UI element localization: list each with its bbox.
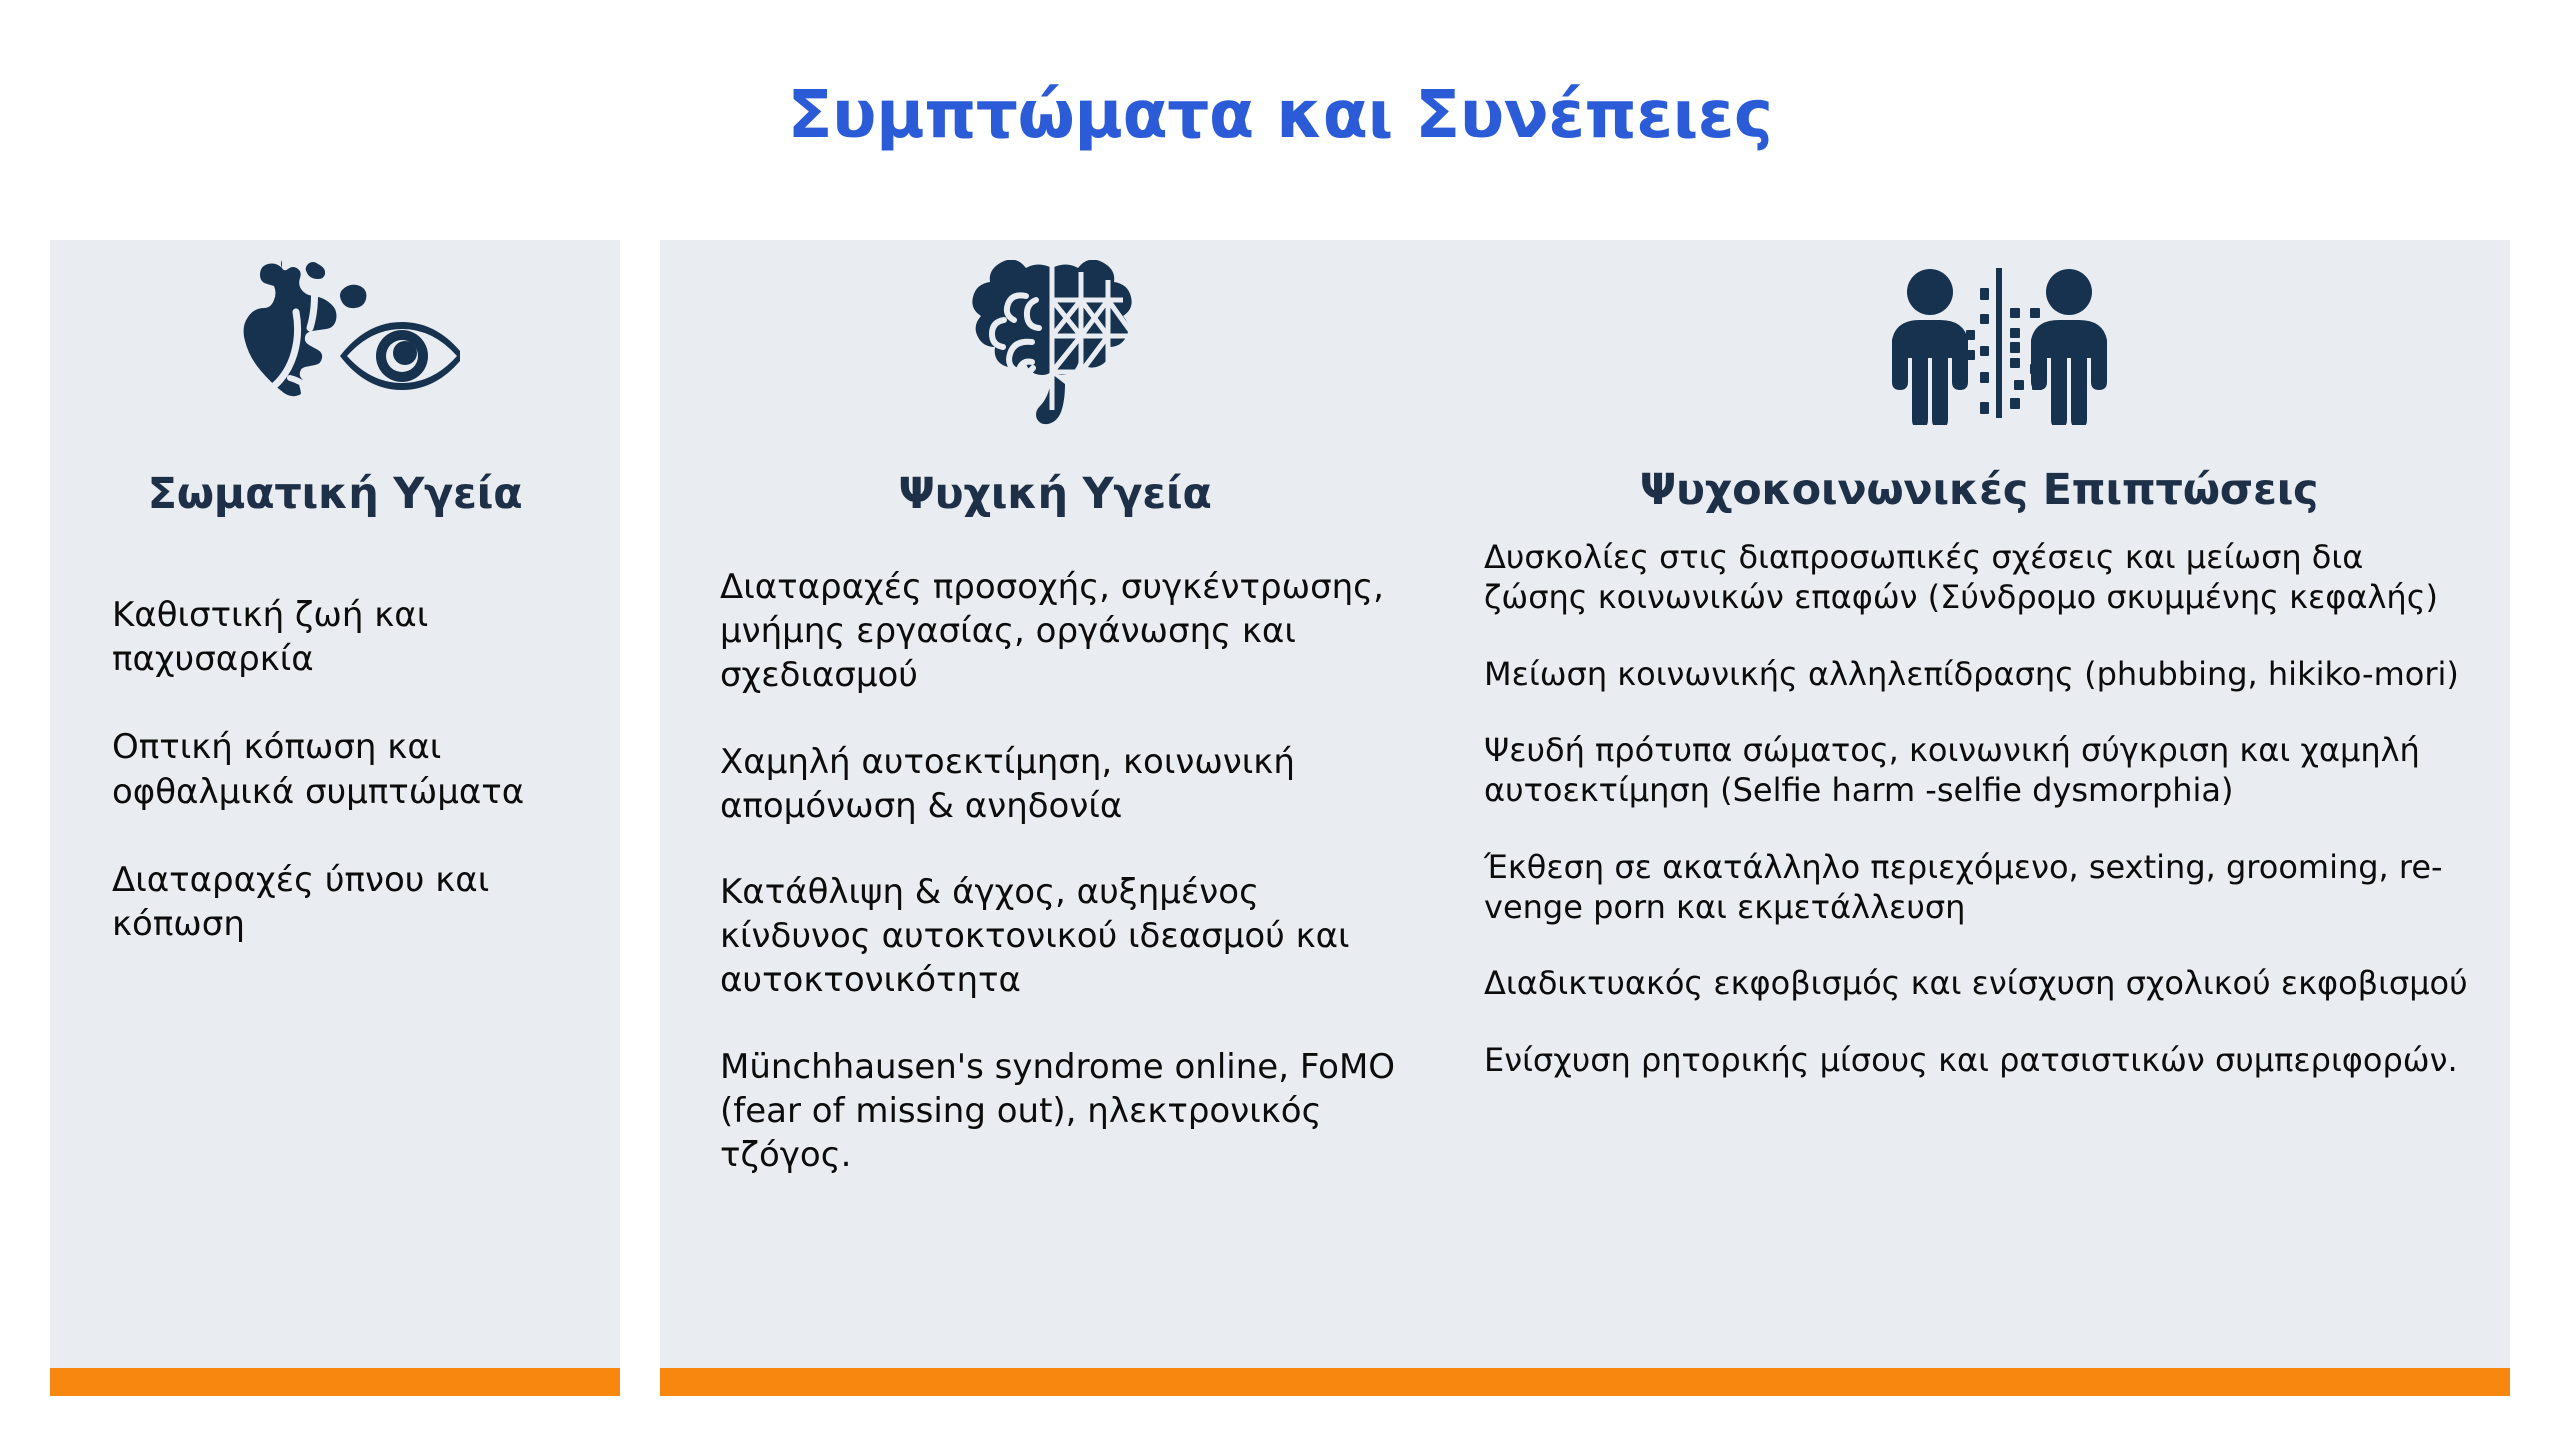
card-heading: Ψυχική Υγεία — [898, 469, 1211, 519]
accent-bar-column-2 — [660, 1368, 1450, 1396]
list-item: Ψευδή πρότυπα σώματος, κοινωνική σύγκρισ… — [1484, 730, 2470, 811]
list-item: Δυσκολίες στις διαπροσωπικές σχέσεις και… — [1484, 537, 2470, 618]
card-heading: Ψυχοκοινωνικές Επιπτώσεις — [1640, 465, 2319, 515]
card-psychosocial-impact: Ψυχοκοινωνικές Επιπτώσεις Δυσκολίες στις… — [1448, 240, 2510, 1368]
list-item: Οπτική κόπωση και οφθαλμικά συμπτώματα — [112, 725, 580, 813]
list-item: Μείωση κοινωνικής αλληλεπίδρασης (phubbi… — [1484, 654, 2470, 694]
social-isolation-people-icon — [1428, 260, 2530, 425]
page-title: Συμπτώματα και Συνέπειες — [0, 76, 2560, 153]
list-item: Κατάθλιψη & άγχος, αυξημένος κίνδυνος αυ… — [720, 870, 1414, 1003]
card-body: Διαταραχές προσοχής, συγκέντρωσης, μνήμη… — [660, 565, 1450, 1177]
brain-network-icon — [660, 260, 1450, 425]
list-item: Χαμηλή αυτοεκτίμηση, κοινωνική απομόνωση… — [720, 740, 1414, 828]
card-body: Δυσκολίες στις διαπροσωπικές σχέσεις και… — [1448, 537, 2510, 1080]
card-mental-health: Ψυχική Υγεία Διαταραχές προσοχής, συγκέν… — [660, 240, 1450, 1368]
list-item: Έκθεση σε ακατάλληλο περιεχόμενο, sextin… — [1484, 847, 2470, 928]
list-item: Καθιστική ζωή και παχυσαρκία — [112, 593, 580, 681]
list-item: Διαδικτυακός εκφοβισμός και ενίσχυση σχο… — [1484, 963, 2470, 1003]
list-item: Ενίσχυση ρητορικής μίσους και ρατσιστικώ… — [1484, 1040, 2470, 1080]
card-somatic-health: Σωματική Υγεία Καθιστική ζωή και παχυσαρ… — [50, 240, 620, 1368]
list-item: Διαταραχές προσοχής, συγκέντρωσης, μνήμη… — [720, 565, 1414, 698]
list-item: Münchhausen's syndrome online, FoMO (fea… — [720, 1045, 1414, 1178]
heart-eye-icon — [40, 260, 630, 425]
accent-bar-column-1 — [50, 1368, 620, 1396]
list-item: Διαταραχές ύπνου και κόπωση — [112, 858, 580, 946]
card-body: Καθιστική ζωή και παχυσαρκία Οπτική κόπω… — [50, 593, 620, 946]
accent-bar-column-3 — [1448, 1368, 2510, 1396]
columns-container: Σωματική Υγεία Καθιστική ζωή και παχυσαρ… — [0, 240, 2560, 1440]
card-heading: Σωματική Υγεία — [148, 469, 523, 519]
